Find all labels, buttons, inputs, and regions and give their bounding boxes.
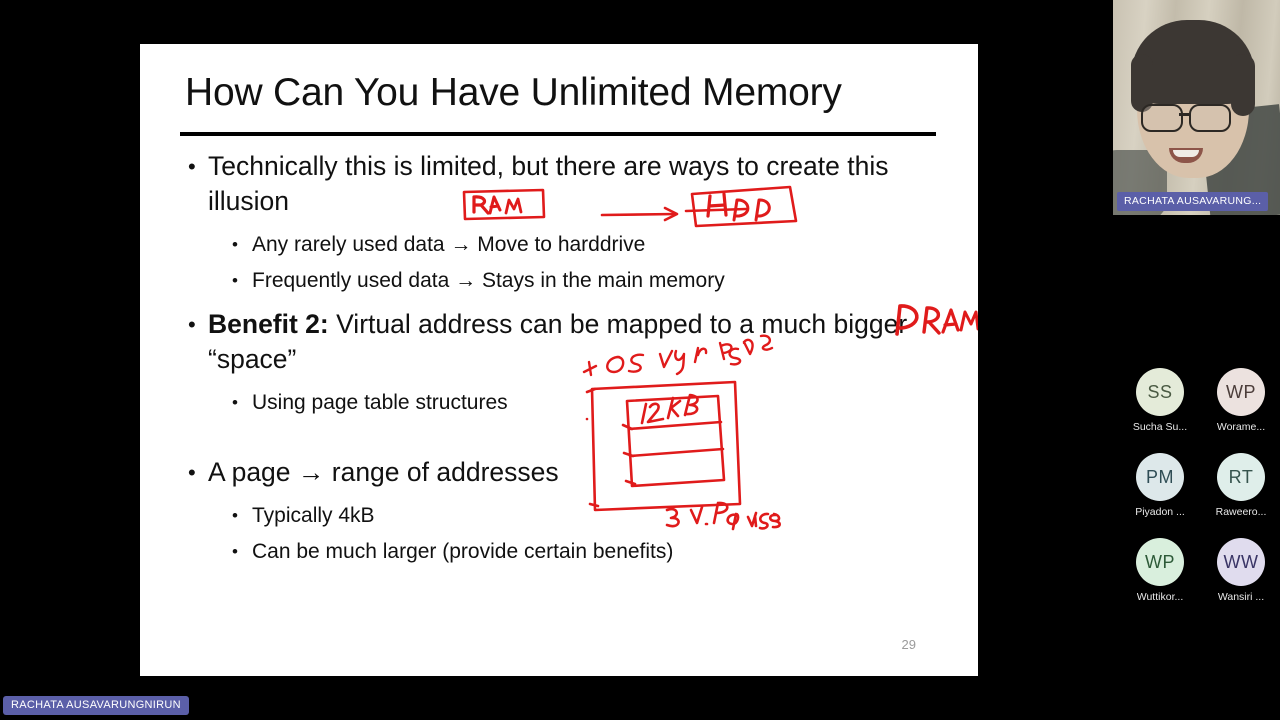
bullet-level2: Using page table structures [184,385,944,421]
participant-name: Piyadon ... [1135,506,1185,518]
participant-name: Raweero... [1216,506,1267,518]
spacer [184,421,944,455]
meeting-screen-share-view: How Can You Have Unlimited Memory Techni… [0,0,1280,720]
avatar: WP [1217,368,1265,416]
participant-name: Worame... [1217,421,1265,433]
participant-tile[interactable]: WW Wansiri ... [1205,538,1277,603]
slide-body: Technically this is limited, but there a… [184,149,944,570]
speaker-webcam-tile[interactable]: RACHATA AUSAVARUNG... [1113,0,1280,215]
spacer [184,299,944,307]
speaker-hair-right [1231,54,1255,116]
speaker-teeth [1173,150,1199,157]
avatar: PM [1136,453,1184,501]
benefit2-label: Benefit 2: [208,309,329,339]
slide-number: 29 [902,637,916,652]
avatar: WW [1217,538,1265,586]
participant-name: Sucha Su... [1133,421,1187,433]
participant-tile[interactable]: SS Sucha Su... [1124,368,1196,433]
active-speaker-name-bar: RACHATA AUSAVARUNGNIRUN [3,696,189,715]
dram-right-letter-m [961,312,978,330]
avatar: RT [1217,453,1265,501]
participant-name: Wansiri ... [1218,591,1264,603]
eyeglass-lens-left [1141,104,1183,132]
bullet-level2: Frequently used data → Stays in the main… [184,263,944,299]
participant-tile[interactable]: WP Worame... [1205,368,1277,433]
eyeglass-bridge [1179,113,1189,116]
bullet-level1: A page → range of addresses [184,455,944,490]
eyeglass-lens-right [1189,104,1231,132]
participant-tile[interactable]: WP Wuttikor... [1124,538,1196,603]
title-underline-rule [180,132,936,136]
bullet-level2: Any rarely used data → Move to harddrive [184,227,944,263]
bullet-level1-benefit2: Benefit 2: Virtual address can be mapped… [184,307,944,377]
participant-tile[interactable]: PM Piyadon ... [1124,453,1196,518]
participant-name: Wuttikor... [1137,591,1184,603]
spacer [184,219,944,227]
webcam-name-label: RACHATA AUSAVARUNG... [1117,192,1268,211]
avatar: WP [1136,538,1184,586]
avatar: SS [1136,368,1184,416]
presentation-slide: How Can You Have Unlimited Memory Techni… [140,44,978,676]
spacer [184,377,944,385]
slide-title: How Can You Have Unlimited Memory [185,68,945,118]
bullet-level2: Can be much larger (provide certain bene… [184,534,944,570]
participant-tile[interactable]: RT Raweero... [1205,453,1277,518]
bullet-level1: Technically this is limited, but there a… [184,149,944,219]
bullet-level2: Typically 4kB [184,498,944,534]
spacer [184,490,944,498]
participant-grid: SS Sucha Su... WP Worame... PM Piyadon .… [1124,368,1280,603]
dram-right-letter-a [943,310,958,332]
